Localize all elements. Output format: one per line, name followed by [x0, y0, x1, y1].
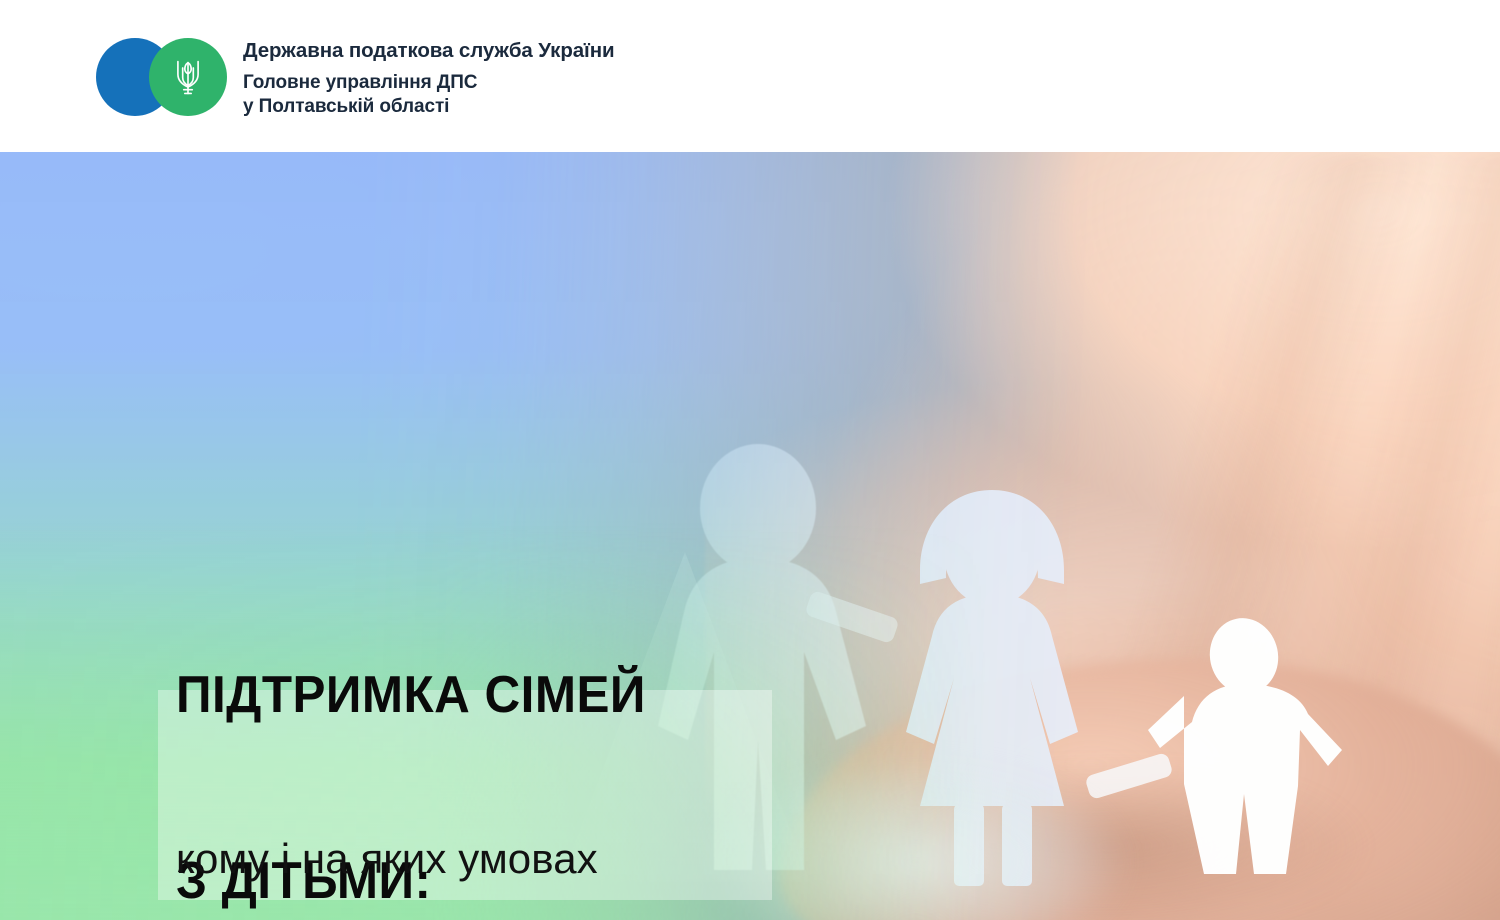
agency-logo [96, 38, 227, 116]
subtitle-line-1: кому і на яких умовах [176, 828, 598, 890]
poster-subtitle: кому і на яких умовах надається податков… [176, 704, 598, 920]
agency-name-line-2: Головне управління ДПС [243, 73, 615, 92]
header-band: Державна податкова служба України Головн… [0, 0, 1500, 152]
hero-banner: ПІДТРИМКА СІМЕЙ З ДІТЬМИ: кому і на яких… [0, 152, 1500, 920]
agency-name-line-1: Державна податкова служба України [243, 41, 615, 62]
agency-name-block: Державна податкова служба України Головн… [243, 38, 615, 116]
agency-name-line-3: у Полтавській області [243, 97, 615, 116]
poster-root: Державна податкова служба України Головн… [0, 0, 1500, 920]
brand-block: Державна податкова служба України Головн… [96, 38, 615, 116]
ukrainian-trident-icon [149, 38, 227, 116]
